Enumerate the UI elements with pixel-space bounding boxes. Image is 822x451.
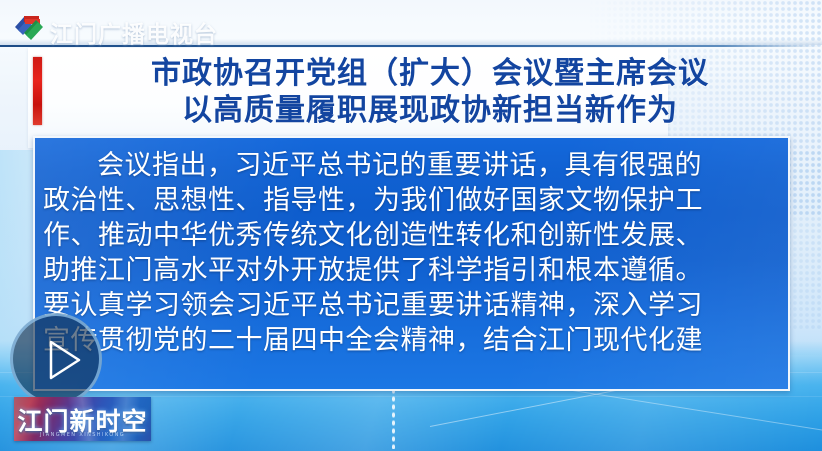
headline-line-1: 市政协召开党组（扩大）会议暨主席会议 bbox=[60, 56, 800, 92]
article-line: 会议指出，习近平总书记的重要讲话，具有很强的 bbox=[43, 148, 780, 183]
headline-accent-bar bbox=[33, 57, 42, 125]
station-logo: 江门广播电视台 bbox=[12, 13, 302, 43]
article-line: 要认真学习领会习近平总书记重要讲话精神，深入学习 bbox=[43, 288, 780, 323]
play-triangle-icon bbox=[44, 338, 78, 380]
play-button[interactable] bbox=[10, 313, 102, 405]
program-logo-banner: 江门新时空 JIANGMEN XINSHIKONG bbox=[14, 397, 151, 441]
article-panel: 会议指出，习近平总书记的重要讲话，具有很强的 政治性、思想性、指导性，为我们做好… bbox=[33, 136, 790, 391]
page-title: 市政协召开党组（扩大）会议暨主席会议 以高质量履职展现政协新担当新作为 bbox=[60, 56, 800, 129]
article-line: 政治性、思想性、指导性，为我们做好国家文物保护工 bbox=[43, 183, 780, 218]
article-text: 会议指出，习近平总书记的重要讲话，具有很强的 政治性、思想性、指导性，为我们做好… bbox=[43, 148, 780, 358]
video-frame: 江门广播电视台 市政协召开党组（扩大）会议暨主席会议 以高质量履职展现政协新担当… bbox=[0, 0, 822, 451]
article-line: 助推江门高水平对外开放提供了科学指引和根本遵循。 bbox=[43, 253, 780, 288]
station-name: 江门广播电视台 bbox=[50, 15, 218, 49]
article-line: 作、推动中华优秀传统文化创造性转化和创新性发展、 bbox=[43, 218, 780, 253]
program-subtitle: JIANGMEN XINSHIKONG bbox=[14, 432, 151, 438]
headline-line-2: 以高质量履职展现政协新担当新作为 bbox=[60, 93, 800, 129]
pinwheel-logo-icon bbox=[12, 13, 48, 43]
article-line: 宣传贯彻党的二十届四中全会精神，结合江门现代化建 bbox=[43, 323, 780, 358]
